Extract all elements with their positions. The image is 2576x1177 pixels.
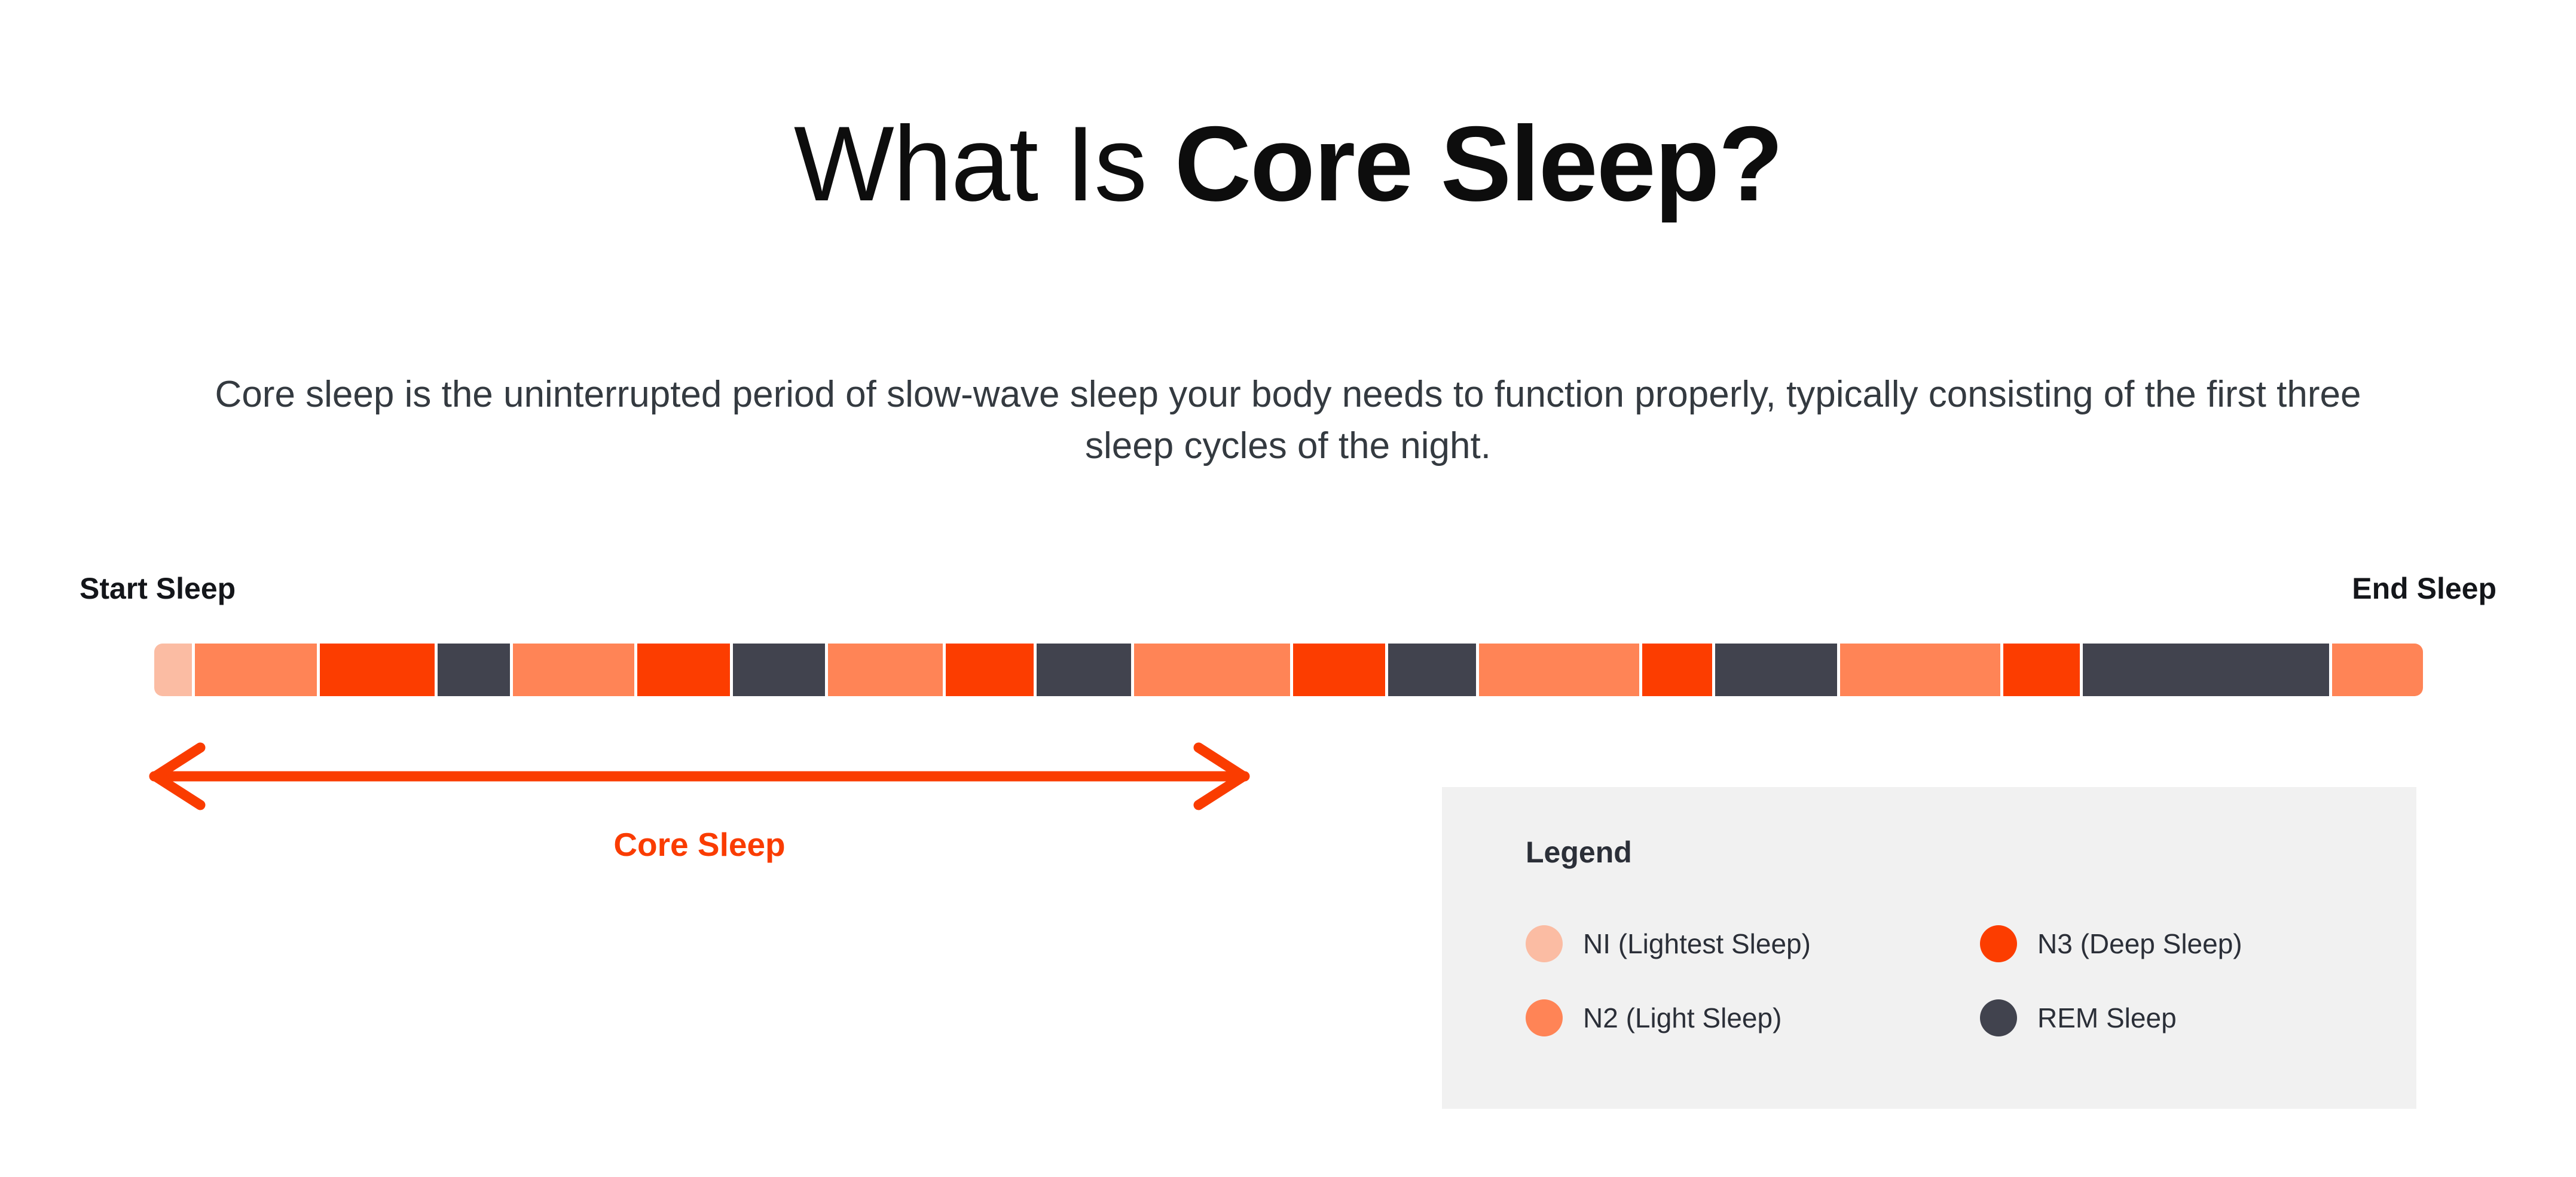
- start-sleep-label: Start Sleep: [80, 571, 236, 606]
- sleep-stage-segment-n3: [1642, 644, 1715, 696]
- sleep-stage-segment-rem: [1388, 644, 1479, 696]
- legend-swatch-rem-icon: [1980, 999, 2017, 1036]
- title-block: What Is Core Sleep?: [0, 111, 2576, 217]
- legend-label-n3: N3 (Deep Sleep): [2037, 928, 2242, 960]
- sleep-stage-segment-rem: [438, 644, 512, 696]
- sleep-stage-segment-n2: [1840, 644, 2003, 696]
- sleep-stage-segment-n3: [946, 644, 1037, 696]
- legend-grid: NI (Lightest Sleep)N3 (Deep Sleep)N2 (Li…: [1526, 907, 2416, 1055]
- sleep-stage-segment-n2: [513, 644, 638, 696]
- core-sleep-arrow-svg: [143, 740, 1255, 812]
- sleep-stage-segment-n3: [1293, 644, 1388, 696]
- sleep-stage-segment-rem: [1037, 644, 1134, 696]
- sleep-stage-segment-n2: [1479, 644, 1642, 696]
- sleep-stage-hypnogram-bar: [154, 644, 2423, 696]
- subtitle-block: Core sleep is the uninterrupted period o…: [200, 332, 2376, 508]
- sleep-stage-segment-n2: [1134, 644, 1293, 696]
- sleep-stage-segment-n3: [2003, 644, 2083, 696]
- legend-swatch-n1-icon: [1526, 925, 1563, 962]
- legend-panel: Legend NI (Lightest Sleep)N3 (Deep Sleep…: [1442, 787, 2416, 1109]
- page-title-bold: Core Sleep?: [1175, 104, 1783, 223]
- sleep-stage-segment-n2: [828, 644, 946, 696]
- page-title-regular: What Is: [794, 104, 1175, 223]
- sleep-stage-segment-rem: [1715, 644, 1840, 696]
- sleep-stage-segment-rem: [733, 644, 828, 696]
- legend-label-n2: N2 (Light Sleep): [1583, 1002, 1781, 1034]
- page-title: What Is Core Sleep?: [0, 111, 2576, 217]
- sleep-stage-segment-rem: [2083, 644, 2332, 696]
- legend-label-n1: NI (Lightest Sleep): [1583, 928, 1811, 960]
- legend-item-n1: NI (Lightest Sleep): [1526, 925, 1980, 962]
- legend-swatch-n2-icon: [1526, 999, 1563, 1036]
- legend-label-rem: REM Sleep: [2037, 1002, 2177, 1034]
- legend-item-n2: N2 (Light Sleep): [1526, 999, 1980, 1036]
- sleep-stage-segment-n2: [2332, 644, 2423, 696]
- core-sleep-label: Core Sleep: [143, 825, 1255, 864]
- legend-item-n3: N3 (Deep Sleep): [1980, 925, 2434, 962]
- sleep-stage-segment-n2: [195, 644, 320, 696]
- core-sleep-arrow: [143, 740, 1255, 812]
- sleep-stage-segment-n3: [320, 644, 438, 696]
- subtitle-text: Core sleep is the uninterrupted period o…: [200, 369, 2376, 471]
- sleep-stage-segment-n3: [637, 644, 732, 696]
- legend-swatch-n3-icon: [1980, 925, 2017, 962]
- legend-item-rem: REM Sleep: [1980, 999, 2434, 1036]
- legend-title: Legend: [1526, 835, 2416, 870]
- sleep-stage-segment-n1: [154, 644, 195, 696]
- end-sleep-label: End Sleep: [2352, 571, 2496, 606]
